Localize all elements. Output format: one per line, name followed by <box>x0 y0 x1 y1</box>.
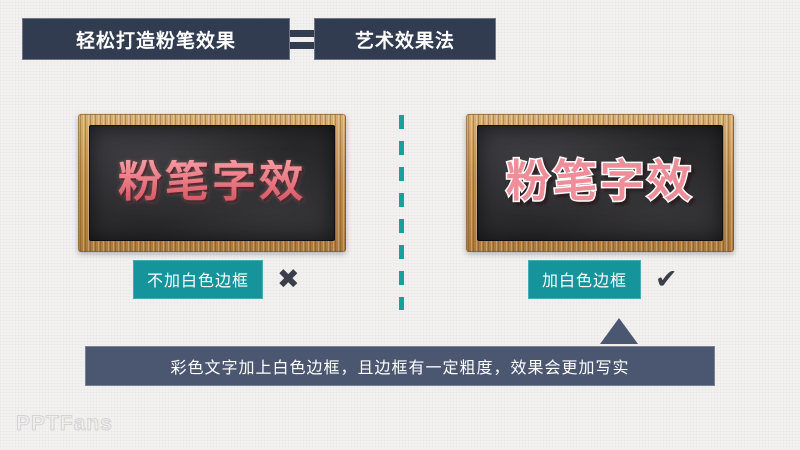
title-sub: 艺术效果法 <box>314 18 496 60</box>
separator-bar-top <box>290 30 314 37</box>
blackboard-left: 粉笔字效 <box>78 114 346 252</box>
blackboard-right: 粉笔字效 <box>466 114 734 252</box>
cross-mark-icon: ✖ <box>277 266 300 293</box>
separator-bar-bottom <box>290 42 314 49</box>
blackboard-right-surface: 粉笔字效 <box>477 125 723 241</box>
caption-row-left: 不加白色边框 ✖ <box>133 260 300 299</box>
check-mark-icon: ✔ <box>655 266 678 293</box>
blackboard-left-surface: 粉笔字效 <box>89 125 335 241</box>
slide-title-bar: 轻松打造粉笔效果 艺术效果法 <box>22 18 496 60</box>
chalk-text-right: 粉笔字效 <box>506 160 694 204</box>
watermark: PPTFans <box>16 412 113 436</box>
vertical-dashed-divider-icon <box>399 115 404 310</box>
title-separator-icon <box>290 18 314 60</box>
caption-row-right: 加白色边框 ✔ <box>528 260 678 299</box>
title-main: 轻松打造粉笔效果 <box>22 18 290 60</box>
up-triangle-icon <box>600 318 638 344</box>
chalk-text-left: 粉笔字效 <box>118 160 306 204</box>
slide-canvas: 轻松打造粉笔效果 艺术效果法 粉笔字效 粉笔字效 不加白色边框 ✖ 加白色边框 … <box>0 0 800 450</box>
caption-label-left: 不加白色边框 <box>133 260 263 299</box>
summary-banner: 彩色文字加上白色边框，且边框有一定粗度，效果会更加写实 <box>85 346 715 386</box>
caption-label-right: 加白色边框 <box>528 260 641 299</box>
